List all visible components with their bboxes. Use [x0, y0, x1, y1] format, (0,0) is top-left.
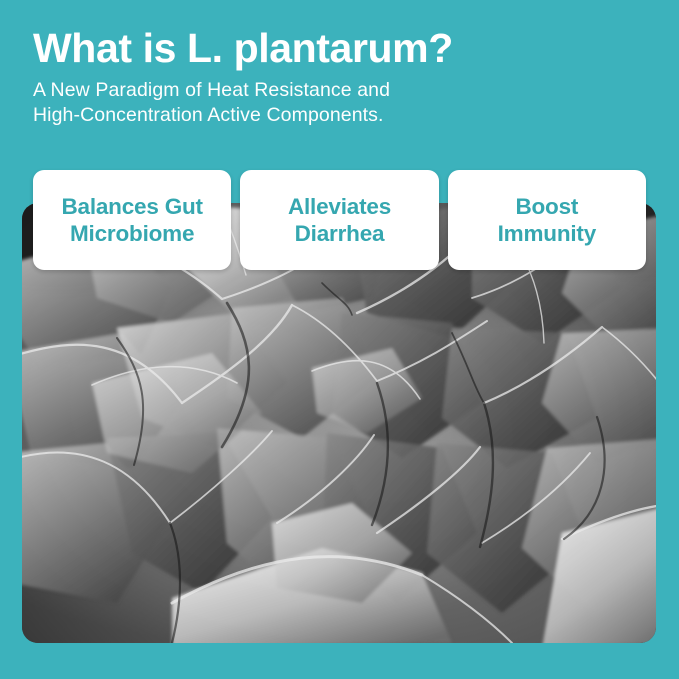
product-benefit-poster: What is L. plantarum? A New Paradigm of …	[0, 0, 679, 679]
benefit-card-boost-immunity[interactable]: Boost Immunity	[448, 170, 646, 270]
page-subtitle-line-2: High-Concentration Active Components.	[33, 103, 633, 128]
page-title: What is L. plantarum?	[33, 24, 633, 72]
benefit-card-label: Alleviates Diarrhea	[282, 193, 397, 247]
benefit-card-balances-gut-microbiome[interactable]: Balances Gut Microbiome	[33, 170, 231, 270]
benefit-card-alleviates-diarrhea[interactable]: Alleviates Diarrhea	[240, 170, 438, 270]
benefit-card-row: Balances Gut Microbiome Alleviates Diarr…	[33, 170, 646, 270]
page-subtitle-line-1: A New Paradigm of Heat Resistance and	[33, 78, 633, 103]
benefit-card-label: Boost Immunity	[492, 193, 602, 247]
benefit-card-label: Balances Gut Microbiome	[55, 193, 208, 247]
page-subtitle: A New Paradigm of Heat Resistance and Hi…	[33, 78, 633, 128]
heading-block: What is L. plantarum? A New Paradigm of …	[33, 24, 633, 128]
